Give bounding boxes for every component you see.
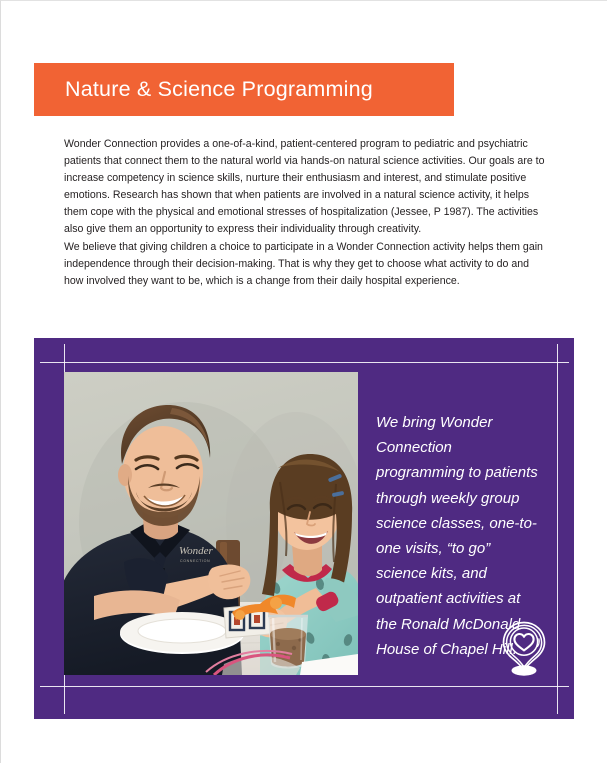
page-title: Nature & Science Programming (34, 77, 373, 102)
body-paragraph-2: We believe that giving children a choice… (64, 239, 551, 290)
svg-text:CONNECTION: CONNECTION (180, 559, 210, 563)
heart-map-pin-glyph (493, 617, 555, 679)
svg-text:Wonder: Wonder (179, 545, 214, 557)
document-page: Nature & Science Programming Wonder Conn… (0, 0, 607, 763)
frame-rule-bottom (40, 686, 569, 687)
frame-rule-top (40, 362, 569, 363)
body-paragraph-1: Wonder Connection provides a one-of-a-ki… (64, 136, 551, 239)
frame-rule-right (557, 344, 558, 714)
feature-photo: Wonder CONNECTION (64, 372, 358, 675)
feature-photo-illustration: Wonder CONNECTION (64, 372, 358, 675)
heart-map-pin-icon (493, 617, 555, 679)
header-banner: Nature & Science Programming (34, 63, 454, 116)
